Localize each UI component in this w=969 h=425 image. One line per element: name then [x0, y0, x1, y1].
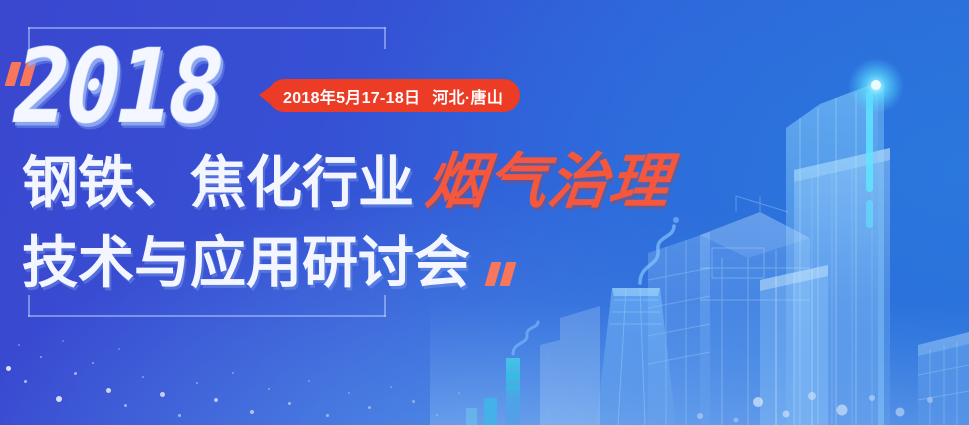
page-title: 钢铁、焦化行业 烟气治理 技术与应用研讨会	[22, 152, 742, 292]
date-location-pill: 2018年5月17-18日 河北·唐山	[268, 79, 520, 112]
conference-banner: 2018 2018年5月17-18日 河北·唐山 钢铁、焦化行业 烟气治理 技术…	[0, 0, 969, 425]
title-line-1: 钢铁、焦化行业 烟气治理	[22, 152, 742, 213]
title-line-2: 技术与应用研讨会	[22, 235, 742, 292]
building-front	[760, 265, 828, 425]
building-far-right	[918, 332, 969, 425]
title-line1-accent: 烟气治理	[423, 152, 673, 213]
date-text: 2018年5月17-18日	[283, 84, 420, 108]
location-text: 河北·唐山	[432, 84, 503, 108]
year-heading: 2018	[4, 36, 230, 139]
title-line1-white: 钢铁、焦化行业	[22, 155, 414, 212]
title-line2-white: 技术与应用研讨会	[22, 235, 470, 292]
close-quote-icon	[488, 262, 513, 286]
